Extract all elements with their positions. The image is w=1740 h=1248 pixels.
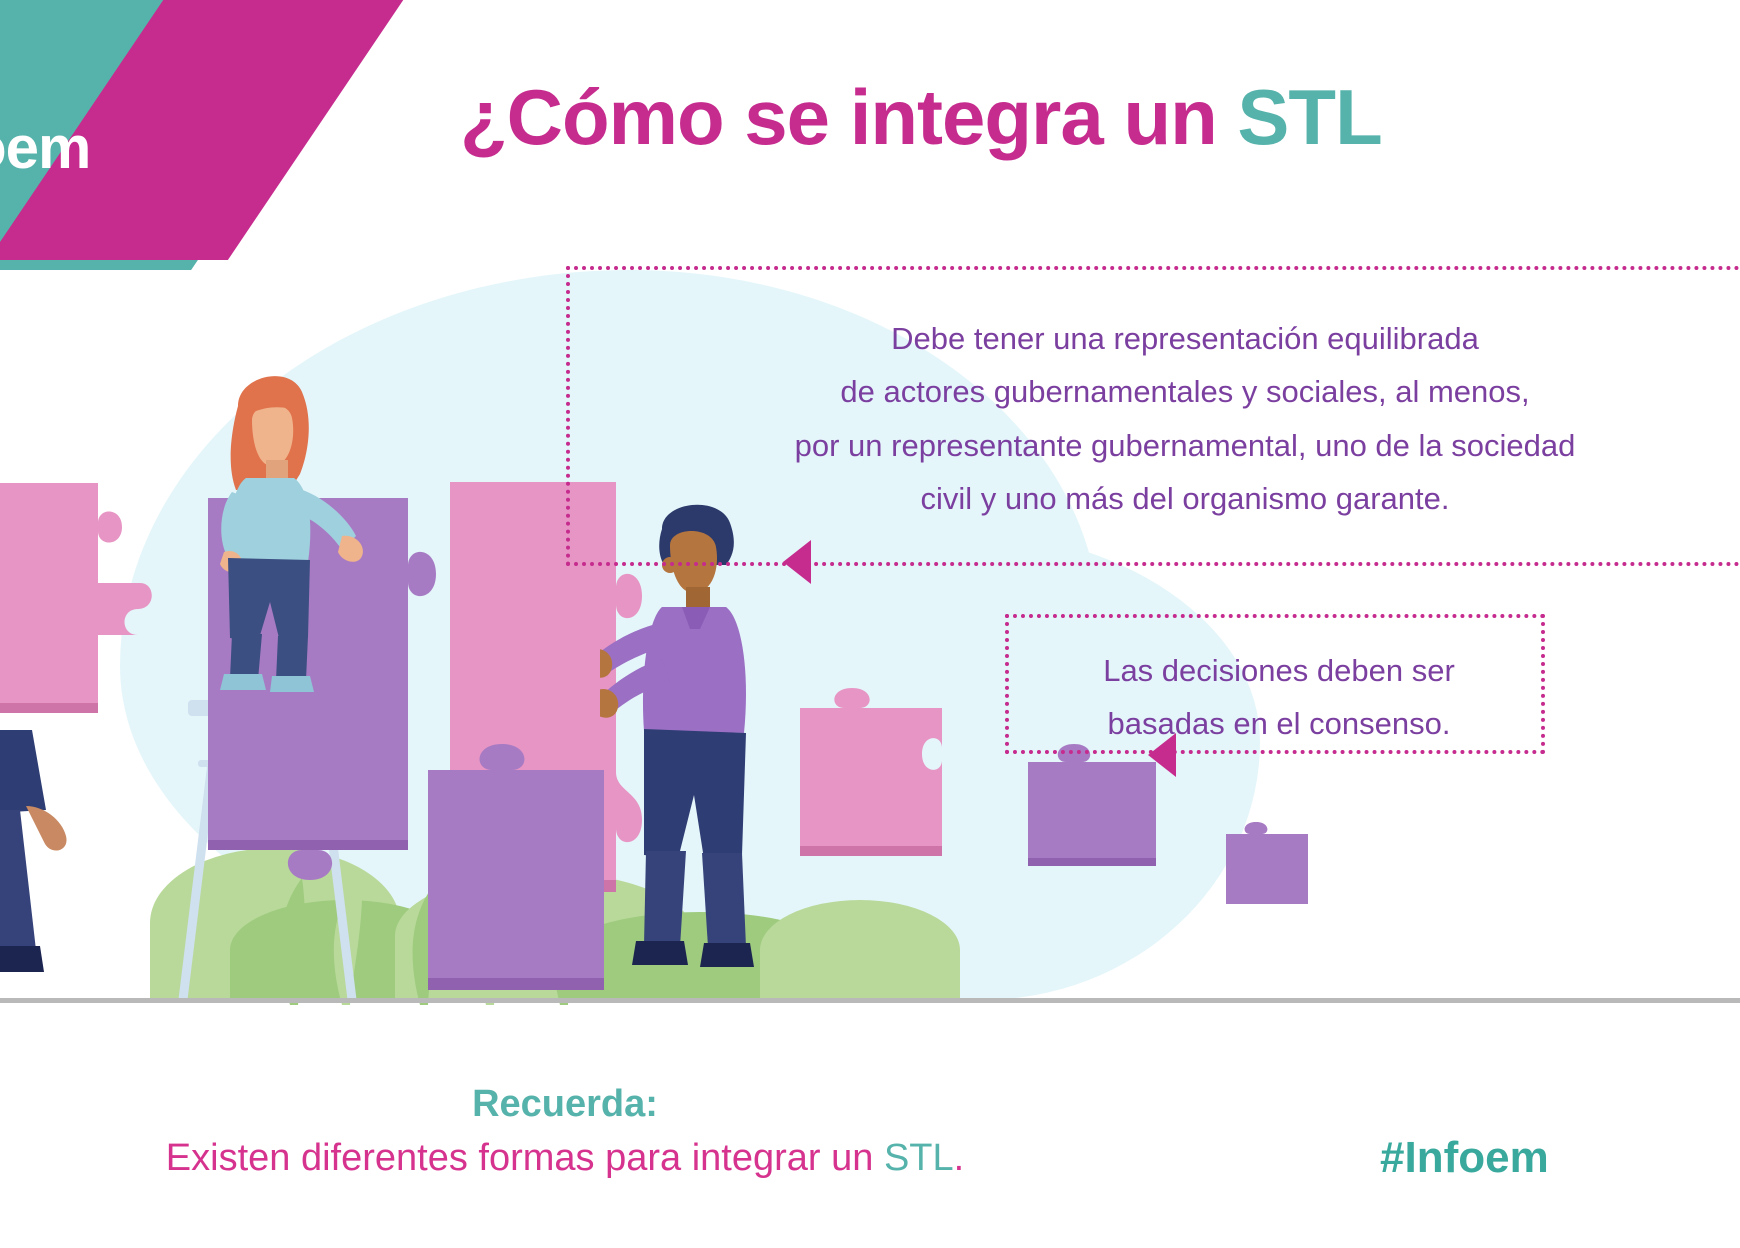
person-woman-on-ladder [196,370,416,710]
callout1-line-4: civil y uno más del organismo garante. [570,472,1740,525]
puzzle-piece-purple-top-lower [200,690,440,880]
puzzle-piece-purple-small [1022,740,1162,875]
callout-balanced-representation: Debe tener una representación equilibrad… [566,266,1740,566]
footer: Recuerda: Existen diferentes formas para… [0,1005,1740,1248]
callout1-line-2: de actores gubernamentales y sociales, a… [570,365,1740,418]
callout-balanced-representation-text: Debe tener una representación equilibrad… [570,312,1740,525]
remember-label: Recuerda: [0,1083,1130,1126]
callout-consensus-arrow-icon [1148,733,1176,777]
infoem-logo: oem [0,118,90,178]
page-title-question: ¿Cómo se integra un [460,73,1237,161]
puzzle-piece-purple-tiny [1222,820,1312,910]
page-title: ¿Cómo se integra un STL [460,78,1382,156]
callout-consensus-text: Las decisiones deben ser basadas en el c… [1009,644,1549,751]
infographic-poster: oem ¿Cómo se integra un STL [0,0,1740,1248]
callout-consensus: Las decisiones deben ser basadas en el c… [1005,614,1545,754]
callout1-line-3: por un representante gubernamental, uno … [570,419,1740,472]
callout2-line-2: basadas en el consenso. [1009,697,1549,750]
person-left-navy [0,620,150,1005]
callout2-line-1: Las decisiones deben ser [1009,644,1549,697]
callout-balanced-representation-arrow-icon [783,540,811,584]
page-title-stl: STL [1237,73,1381,161]
remember-body-part1: Existen diferentes formas para integrar … [166,1137,884,1179]
remember-body-stl: STL [884,1137,954,1179]
remember-body-period: . [954,1137,965,1179]
callout1-line-1: Debe tener una representación equilibrad… [570,312,1740,365]
remember-body: Existen diferentes formas para integrar … [0,1137,1130,1180]
puzzle-piece-purple-bottom [418,740,618,1005]
ground-line [0,998,1740,1003]
hashtag-infoem: #Infoem [1380,1133,1549,1183]
